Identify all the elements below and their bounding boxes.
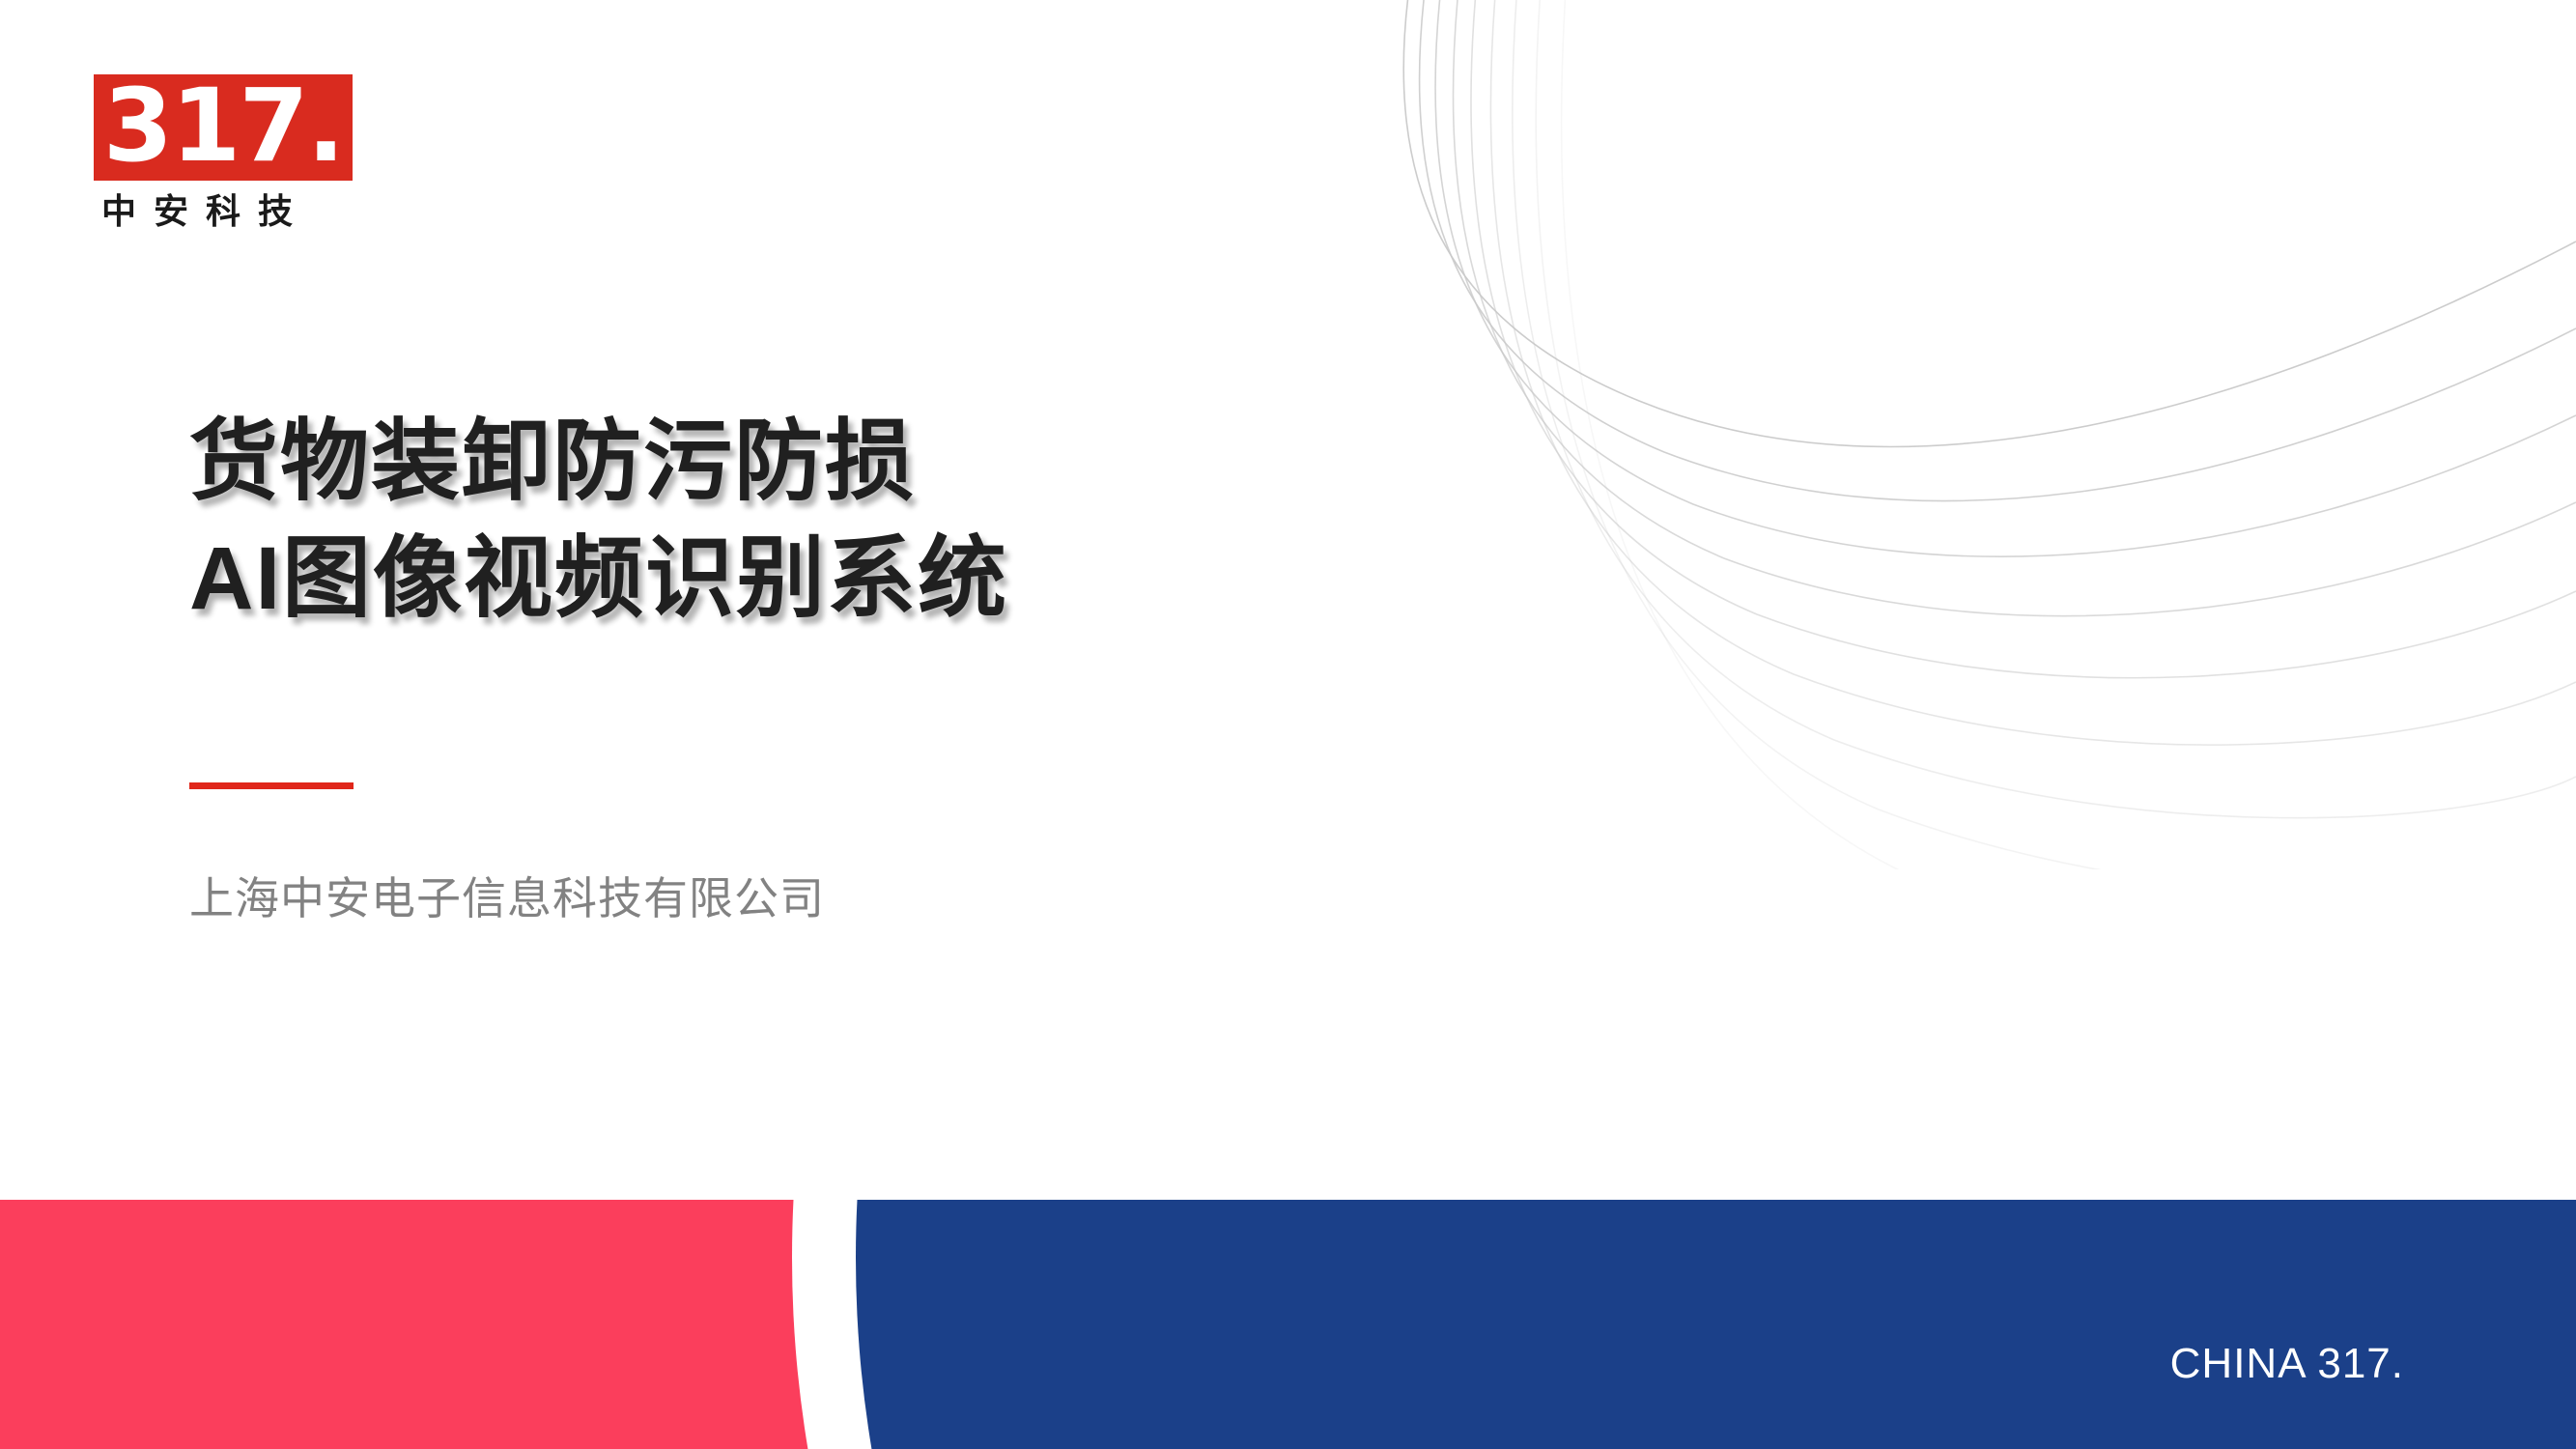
title-divider	[189, 782, 354, 789]
page-title: 货物装卸防污防损 AI图像视频识别系统	[189, 404, 1445, 639]
title-line-1: 货物装卸防污防损	[189, 404, 1445, 521]
subtitle-company-name: 上海中安电子信息科技有限公司	[189, 872, 825, 925]
logo-mark-317: 317.	[94, 74, 353, 181]
footer-band: CHINA 317.	[0, 1200, 2576, 1449]
decorative-curves	[1320, 0, 2576, 869]
title-slide: 317. 中安科技 货物装卸防污防损 AI图像视频识别系统 上海中安电子信息科技…	[0, 0, 2576, 1449]
company-logo: 317. 中安科技	[94, 74, 354, 229]
footer-band-navy-sweep	[856, 1200, 2576, 1449]
logo-company-short: 中安科技	[94, 194, 354, 229]
title-line-2: AI图像视频识别系统	[189, 521, 1445, 638]
logo-mark-label: 317.	[103, 75, 344, 176]
footer-brand-label: CHINA 317.	[2170, 1343, 2404, 1385]
